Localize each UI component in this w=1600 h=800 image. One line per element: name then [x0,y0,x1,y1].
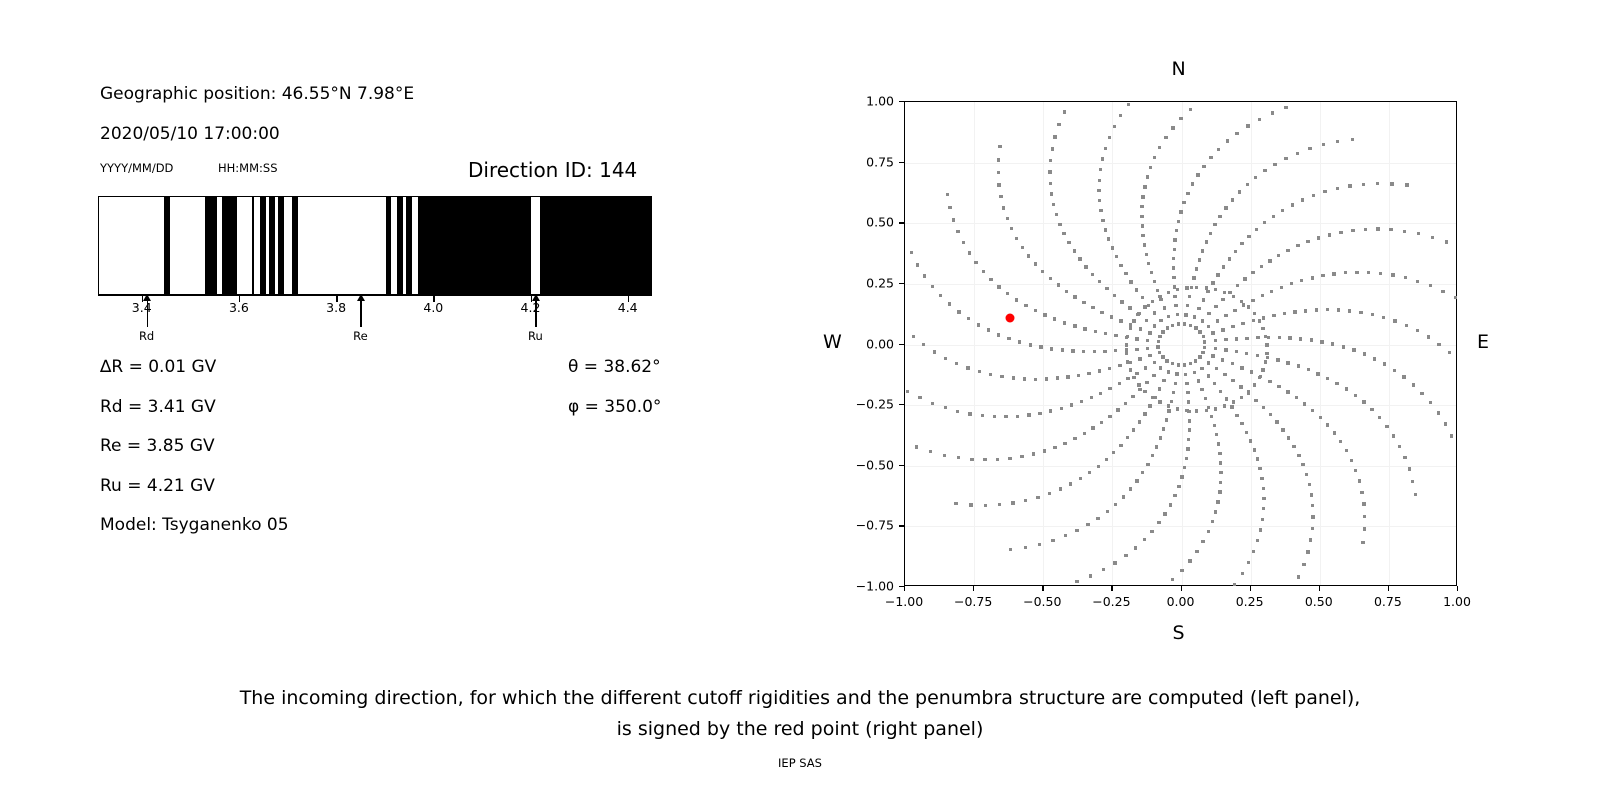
direction-dot [1146,339,1149,342]
datetime-text: 2020/05/10 17:00:00 [100,124,280,144]
direction-dot [1007,337,1010,340]
polar-y-tick-label: 0.75 [836,154,894,169]
direction-dot [1405,324,1408,327]
gridline-horizontal [905,405,1456,406]
direction-dot [1391,273,1394,276]
direction-dot [1138,388,1141,391]
direction-dot [1135,337,1138,340]
compass-label-north: N [1172,58,1186,80]
direction-dot [1126,360,1129,363]
direction-dot [1236,284,1239,287]
direction-dot [1115,255,1118,258]
direction-dot [1167,370,1170,373]
direction-dot [1108,367,1111,370]
direction-dot [1057,283,1060,286]
direction-dot [1094,330,1097,333]
penumbra-spectrum-bar [98,196,652,295]
direction-dot [1317,236,1320,239]
penumbra-band [164,197,170,294]
direction-dot [1235,414,1238,417]
direction-dot [1224,314,1227,317]
direction-dot [1253,312,1256,315]
direction-dot [1243,277,1246,280]
direction-dot [1378,416,1381,419]
direction-dot [1266,356,1269,359]
direction-dot [1050,192,1053,195]
direction-dot [1310,493,1313,496]
direction-dot [1281,209,1284,212]
penumbra-band [222,197,237,294]
direction-dot [1200,367,1203,370]
direction-dot [1224,338,1227,341]
penumbra-tick-label: 4.2 [521,300,541,315]
polar-x-tick [1457,586,1458,591]
direction-dot [1316,372,1319,375]
direction-dot [1156,345,1159,348]
direction-dot [1269,413,1272,416]
direction-dot [1363,527,1366,530]
direction-dot [1385,425,1388,428]
direction-dot [1264,335,1267,338]
direction-dot [1176,288,1179,291]
direction-dot [1125,352,1128,355]
direction-dot [1247,390,1250,393]
direction-dot [1100,421,1103,424]
direction-dot [1008,457,1011,460]
penumbra-band [269,197,275,294]
direction-dot [968,412,971,415]
direction-dot [1113,125,1116,128]
direction-dot [1175,229,1178,232]
direction-dot [1061,348,1064,351]
polar-x-tick-label: 0.25 [1236,594,1264,609]
direction-dot [989,373,992,376]
marker-label-re: Re [353,329,368,343]
direction-dot [1158,146,1161,149]
direction-dot [1166,326,1169,329]
direction-dot [1277,385,1280,388]
direction-dot [1441,290,1444,293]
direction-dot [1073,295,1076,298]
direction-dot [1195,267,1198,270]
direction-dot [1209,156,1212,159]
direction-dot [1299,337,1302,340]
direction-dot [1202,335,1205,338]
polar-y-tick [899,344,904,345]
direction-dot [1238,190,1241,193]
direction-dot [1153,311,1156,314]
direction-dot [1099,392,1102,395]
direction-dot [1151,396,1154,399]
direction-dot [1089,574,1092,577]
direction-dot [1108,415,1111,418]
direction-dot [1263,169,1266,172]
direction-dot [1281,428,1284,431]
penumbra-tick-label: 4.0 [423,300,443,315]
direction-dot [1202,165,1205,168]
direction-dot [1363,515,1366,518]
direction-dot [1128,306,1131,309]
polar-y-tick [899,283,904,284]
direction-dot [1261,294,1264,297]
direction-dot [1437,411,1440,414]
direction-dot [1268,380,1271,383]
direction-dot [1297,364,1300,367]
direction-dot [1159,319,1162,322]
polar-x-tick [1111,586,1112,591]
direction-dot [1146,463,1149,466]
direction-dot [1211,354,1214,357]
direction-dot [1348,184,1351,187]
direction-dot [1078,257,1081,260]
direction-dot [1203,346,1206,349]
gridline-vertical [974,102,975,585]
direction-dot [1073,324,1076,327]
direction-dot [1277,254,1280,257]
direction-dot [1306,550,1309,553]
direction-dot [1162,427,1165,430]
direction-dot [1326,377,1329,380]
direction-dot [1322,143,1325,146]
direction-dot [1071,349,1074,352]
direction-dot [1207,312,1210,315]
direction-dot [1161,355,1164,358]
direction-dot [1018,340,1021,343]
direction-dot [1333,431,1336,434]
direction-dot [1205,286,1208,289]
direction-dot [1253,448,1256,451]
polar-x-tick [904,586,905,591]
polar-x-tick [1181,586,1182,591]
polar-x-tick [973,586,974,591]
direction-dot [1034,378,1037,381]
direction-dot [1172,391,1175,394]
direction-dot [1009,548,1012,551]
direction-dot [1174,304,1177,307]
direction-dot [1119,264,1122,267]
direction-dot [1301,198,1304,201]
direction-dot [1134,546,1137,549]
direction-dot [977,323,980,326]
direction-dot [1221,358,1224,361]
direction-dot [1320,340,1323,343]
direction-dot [1364,228,1367,231]
direction-dot [1132,428,1135,431]
direction-dot [1049,409,1052,412]
gridline-horizontal [905,223,1456,224]
penumbra-band [418,197,532,294]
direction-dot [997,171,1000,174]
direction-dot [1024,304,1027,307]
direction-dot [1060,407,1063,410]
direction-dot [1183,363,1186,366]
direction-dot [906,390,909,393]
direction-dot [1177,363,1180,366]
direction-dot [1332,272,1335,275]
direction-dot [955,362,958,365]
penumbra-band [278,197,284,294]
direction-dot [1235,337,1238,340]
direction-dot [1102,568,1105,571]
direction-dot [1082,301,1085,304]
direction-dot [1373,357,1376,360]
polar-y-tick-label: −0.25 [836,397,894,412]
penumbra-band [406,197,412,294]
direction-dot [1167,315,1170,318]
direction-dot [1129,327,1132,330]
direction-dot [1158,387,1161,390]
direction-dot [1175,372,1178,375]
direction-dot [1126,436,1129,439]
direction-dot [948,206,951,209]
footer-text: IEP SAS [0,756,1600,770]
direction-dot [1038,543,1041,546]
direction-dot [1156,289,1159,292]
polar-x-tick-label: −0.75 [954,594,992,609]
direction-dot [1138,357,1141,360]
direction-dot [1273,163,1276,166]
direction-dot [993,415,996,418]
marker-arrow-ru [535,297,536,327]
direction-dot [1186,447,1189,450]
direction-dot [1063,442,1066,445]
direction-dot [1062,232,1065,235]
direction-dot [1153,280,1156,283]
direction-dot [1112,451,1115,454]
direction-dot [1079,477,1082,480]
direction-dot [1015,237,1018,240]
direction-dot [1177,322,1180,325]
polar-y-tick-label: −0.50 [836,457,894,472]
direction-dot [1255,228,1258,231]
direction-dot [1254,176,1257,179]
direction-dot [1171,324,1174,327]
direction-dot [1188,295,1191,298]
direction-dot [1099,168,1102,171]
direction-dot [1362,183,1365,186]
direction-dot [1214,407,1217,410]
direction-dot [1251,271,1254,274]
direction-dot [1405,183,1408,186]
direction-dot [1362,502,1365,505]
direction-dot [1339,231,1342,234]
direction-dot [1124,272,1127,275]
direction-dot [1310,338,1313,341]
selected-direction-point [1006,313,1015,322]
direction-dot [1337,308,1340,311]
direction-dot [967,317,970,320]
direction-dot [1254,399,1257,402]
direction-dot [1271,111,1274,114]
direction-dot [1328,233,1331,236]
direction-dot [1177,485,1180,488]
penumbra-band [292,197,298,294]
direction-dot [1165,359,1168,362]
direction-dot [1235,132,1238,135]
direction-dot [1098,280,1101,283]
direction-dot [1064,534,1067,537]
gridline-vertical [1043,102,1044,585]
direction-dot [1158,400,1161,403]
direction-dot [1224,348,1227,351]
direction-dot [1201,319,1204,322]
direction-dot [984,504,987,507]
direction-dot [1206,290,1209,293]
direction-dot [1049,277,1052,280]
direction-dot [1383,362,1386,365]
direction-dot [1106,510,1109,513]
polar-y-tick-label: 1.00 [836,94,894,109]
direction-dot [1016,415,1019,418]
direction-dot [1245,337,1248,340]
gridline-vertical [1112,102,1113,585]
direction-dot [1152,374,1155,377]
direction-dot [1066,375,1069,378]
direction-dot [1195,550,1198,553]
direction-dot [1075,580,1078,583]
direction-dot [1195,286,1198,289]
direction-dot [1188,559,1191,562]
direction-dot [970,458,973,461]
direction-dot [1260,265,1263,268]
direction-dot [1241,322,1244,325]
direction-dot [997,183,1000,186]
direction-dot [1024,546,1027,549]
penumbra-band [205,197,217,294]
direction-dot [1119,444,1122,447]
direction-dot [1097,465,1100,468]
direction-dot [1043,313,1046,316]
direction-dot [1131,395,1134,398]
direction-dot [996,458,999,461]
direction-dot [1444,422,1447,425]
direction-dot [1132,376,1135,379]
direction-dot [1354,394,1357,397]
direction-dot [1454,296,1457,299]
direction-dot [1311,276,1314,279]
penumbra-band [540,197,652,294]
direction-dot [1038,412,1041,415]
direction-dot [1118,364,1121,367]
direction-dot [1252,550,1255,553]
direction-dot [1189,108,1192,111]
direction-dot [954,502,957,505]
direction-dot [974,261,977,264]
direction-dot [1141,296,1144,299]
direction-dot [1235,350,1238,353]
direction-dot [1119,114,1122,117]
direction-dot [1125,343,1128,346]
direction-dot [1004,415,1007,418]
direction-dot [1203,340,1206,343]
direction-dot [1260,477,1263,480]
direction-dot [1234,250,1237,253]
direction-dot [1232,295,1235,298]
direction-dot [1240,242,1243,245]
direction-dot [1163,512,1166,515]
direction-dot [1198,355,1201,358]
direction-dot [1268,259,1271,262]
direction-dot [1319,416,1322,419]
polar-y-tick [899,465,904,466]
direction-dot [1221,298,1224,301]
direction-dot [1158,351,1161,354]
direction-dot [1185,409,1188,412]
direction-dot [1145,319,1148,322]
direction-dot [1247,561,1250,564]
direction-dot [1113,561,1116,564]
direction-dot [1404,276,1407,279]
penumbra-band [397,197,403,294]
direction-dot [1027,254,1030,257]
direction-dot [1191,182,1194,185]
direction-dot [1159,366,1162,369]
direction-dot [1213,382,1216,385]
direction-dot [1090,396,1093,399]
direction-dot [1120,300,1123,303]
direction-dot [1276,358,1279,361]
direction-dot [1223,373,1226,376]
direction-dot [1200,388,1203,391]
penumbra-band [386,197,392,294]
direction-dot [1261,518,1264,521]
date-format-hint: YYYY/MM/DD [100,161,173,175]
direction-dot [1107,237,1110,240]
direction-dot [1179,210,1182,213]
direction-dot [1265,343,1268,346]
direction-dot [1114,334,1117,337]
direction-dot [1172,276,1175,279]
direction-dot [1265,352,1268,355]
direction-dot [1124,554,1127,557]
penumbra-tick-label: 3.6 [229,300,249,315]
direction-dot [1247,235,1250,238]
direction-dot [1006,292,1009,295]
direction-dot [1290,282,1293,285]
direction-dot [1262,487,1265,490]
direction-dot [1219,481,1222,484]
direction-dot [1184,373,1187,376]
direction-dot [1149,166,1152,169]
direction-dot [1172,266,1175,269]
left-panel: Geographic position: 46.55°N 7.98°E 2020… [0,0,700,660]
direction-dot [1146,347,1149,350]
marker-arrowhead-rd [143,294,151,301]
direction-dot [1242,303,1245,306]
direction-dot [997,333,1000,336]
direction-dot [1241,572,1244,575]
direction-dot [1348,309,1351,312]
direction-dot [1224,206,1227,209]
direction-dot [1185,457,1188,460]
polar-x-tick-label: 0.50 [1305,594,1333,609]
direction-dot [1339,440,1342,443]
direction-dot [1292,445,1295,448]
direction-dot [1101,219,1104,222]
direction-dot [1143,185,1146,188]
direction-dot [1189,362,1192,365]
direction-dot [1135,479,1138,482]
direction-dot [1118,382,1121,385]
direction-dot [1351,229,1354,232]
direction-dot [1256,354,1259,357]
direction-dot [1198,330,1201,333]
direction-dot [1253,383,1256,386]
direction-dot [1011,501,1014,504]
direction-dot [1080,400,1083,403]
direction-dot [1141,195,1144,198]
direction-dot [1045,377,1048,380]
